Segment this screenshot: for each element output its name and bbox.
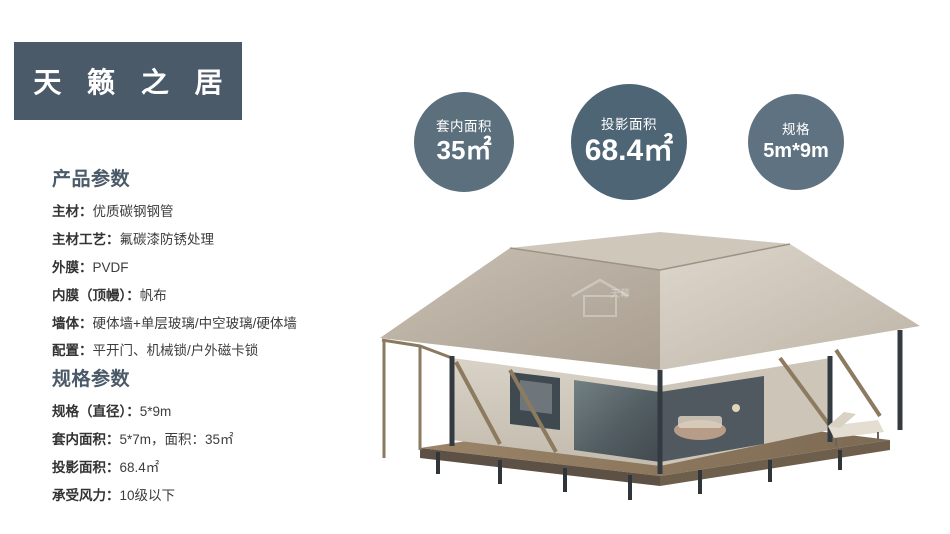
spec-key: 外膜：	[52, 260, 93, 275]
spec-row: 外膜：PVDF	[52, 260, 297, 277]
product-title: 天 籁 之 居	[24, 61, 231, 101]
spec-key: 主材工艺：	[52, 232, 120, 247]
spec-row: 主材工艺：氟碳漆防锈处理	[52, 232, 297, 249]
spec-value: PVDF	[93, 260, 129, 275]
spec-value: 氟碳漆防锈处理	[120, 232, 215, 247]
spec-row: 内膜（顶幔）：帆布	[52, 288, 297, 305]
product-parameters-heading: 产品参数	[52, 164, 297, 191]
spec-key: 主材：	[52, 204, 93, 219]
spec-value: 平开门、机械锁/户外磁卡锁	[93, 343, 259, 358]
stat-label: 套内面积	[436, 119, 492, 135]
stat-label: 规格	[782, 122, 810, 138]
spec-value: 硬体墙+单层玻璃/中空玻璃/硬体墙	[93, 316, 297, 331]
spec-key: 规格（直径）：	[52, 404, 140, 419]
spec-value: 10级以下	[120, 488, 176, 503]
stat-circle-projected-area: 投影面积 68.4㎡	[571, 84, 687, 200]
spec-value: 帆布	[140, 288, 167, 303]
spec-row: 承受风力：10级以下	[52, 488, 234, 505]
stat-label: 投影面积	[601, 117, 657, 133]
canopy-frame	[382, 340, 452, 458]
tent-house-svg	[360, 230, 950, 520]
product-spec-page: 天 籁 之 居 产品参数 主材：优质碳钢钢管 主材工艺：氟碳漆防锈处理 外膜：P…	[0, 0, 950, 534]
tent-house-illustration: 天幕	[360, 230, 950, 520]
spec-value: 68.4㎡	[120, 460, 160, 475]
tent-roof	[380, 232, 920, 370]
spec-key: 投影面积：	[52, 460, 120, 475]
spec-row: 墙体：硬体墙+单层玻璃/中空玻璃/硬体墙	[52, 316, 297, 333]
spec-value: 5*9m	[140, 404, 172, 419]
spec-row: 主材：优质碳钢钢管	[52, 204, 297, 221]
spec-row: 投影面积：68.4㎡	[52, 460, 234, 477]
spec-key: 承受风力：	[52, 488, 120, 503]
spec-row: 配置：平开门、机械锁/户外磁卡锁	[52, 343, 297, 360]
stat-value: 68.4㎡	[585, 135, 673, 167]
spec-key: 内膜（顶幔）：	[52, 288, 140, 303]
spec-key: 配置：	[52, 343, 93, 358]
spec-parameters-section: 规格参数 规格（直径）：5*9m 套内面积：5*7m，面积：35㎡ 投影面积：6…	[52, 364, 234, 516]
spec-parameters-heading: 规格参数	[52, 364, 234, 391]
stat-value: 35㎡	[437, 137, 492, 164]
spec-row: 套内面积：5*7m，面积：35㎡	[52, 432, 234, 449]
product-title-banner: 天 籁 之 居	[14, 42, 242, 120]
spec-key: 套内面积：	[52, 432, 120, 447]
spec-key: 墙体：	[52, 316, 93, 331]
stat-circle-dimensions: 规格 5m*9m	[748, 94, 844, 190]
spec-value: 5*7m，面积：35㎡	[120, 432, 234, 447]
product-parameters-section: 产品参数 主材：优质碳钢钢管 主材工艺：氟碳漆防锈处理 外膜：PVDF 内膜（顶…	[52, 164, 297, 371]
spec-value: 优质碳钢钢管	[93, 204, 174, 219]
stat-circle-interior-area: 套内面积 35㎡	[414, 92, 514, 192]
stat-value: 5m*9m	[763, 141, 829, 162]
spec-row: 规格（直径）：5*9m	[52, 404, 234, 421]
